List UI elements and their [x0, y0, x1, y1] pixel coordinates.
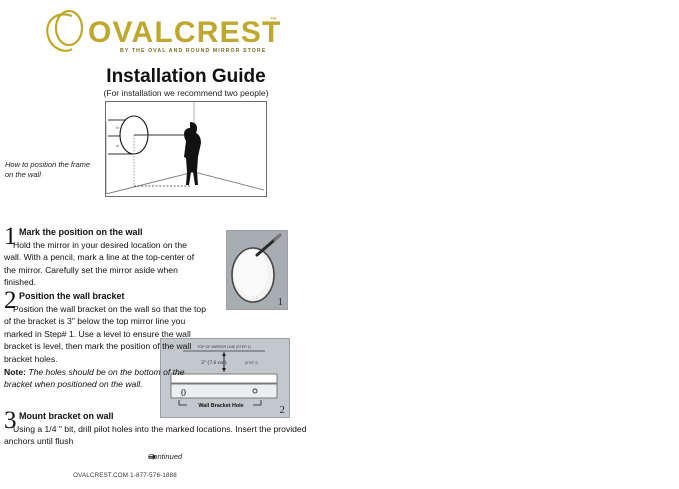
step-number: 1 [4, 226, 17, 248]
note-label: Note: [4, 367, 26, 377]
footer-left: OVALCREST.COM 1-877-576-1888 [0, 472, 250, 479]
step-1: 1 Mark the position on the wall Hold the… [4, 226, 204, 289]
continued-arrow-icon: ➜ [148, 452, 156, 463]
svg-text:(STEP 2): (STEP 2) [245, 361, 258, 365]
step-body-text: Hold the mirror in your desired location… [4, 240, 194, 287]
step-note: Note: The holes should be on the bottom … [4, 366, 209, 391]
step-number: 3 [4, 410, 17, 432]
wall-bracket-hole-label: Wall Bracket Hole [198, 403, 243, 409]
page-title: Installation Guide [0, 66, 372, 88]
step-body: Hold the mirror in your desired location… [4, 239, 204, 289]
mirror-pencil-illustration [227, 231, 285, 307]
panel-number: 1 [278, 296, 284, 308]
step-3: 3 Mount bracket on wall Using a 1/4 " bi… [4, 410, 334, 448]
step-body: Position the wall bracket on the wall so… [4, 303, 209, 365]
step-body-text: Position the wall bracket on the wall so… [4, 304, 206, 364]
step-heading: Position the wall bracket [19, 290, 209, 302]
diagram-caption: How to position the frame on the wall [5, 160, 100, 180]
note-text: The holes should be on the bottom of the… [4, 367, 185, 389]
brand-name: OVALCREST [88, 18, 282, 48]
step-body: Using a 1/4 " bit, drill pilot holes int… [4, 423, 334, 448]
brand-logo: OVALCREST ™ BY THE OVAL AND ROUND MIRROR… [42, 8, 297, 56]
panel-1-mirror-pencil: 1 [226, 230, 288, 310]
continued-label: Continued [105, 452, 225, 461]
page-subtitle: (For installation we recommend two peopl… [0, 88, 372, 98]
step-body-text: Using a 1/4 " bit, drill pilot holes int… [4, 424, 306, 446]
trademark-symbol: ™ [270, 17, 277, 24]
step-2: 2 Position the wall bracket Position the… [4, 290, 209, 391]
svg-text:in: in [116, 144, 119, 148]
step-heading: Mark the position on the wall [19, 226, 204, 238]
room-diagram-svg: in in [106, 102, 264, 194]
svg-text:in: in [116, 126, 119, 130]
brand-tagline: BY THE OVAL AND ROUND MIRROR STORE [120, 48, 266, 54]
room-position-diagram: in in [105, 101, 267, 197]
installation-guide-page: OVALCREST ™ BY THE OVAL AND ROUND MIRROR… [0, 0, 679, 489]
step-number: 2 [4, 290, 17, 312]
left-column: OVALCREST ™ BY THE OVAL AND ROUND MIRROR… [0, 0, 372, 489]
step-heading: Mount bracket on wall [19, 410, 334, 422]
right-column: with the wall surface. Place the wall br… [378, 0, 679, 489]
oval-swash-icon [42, 8, 94, 56]
